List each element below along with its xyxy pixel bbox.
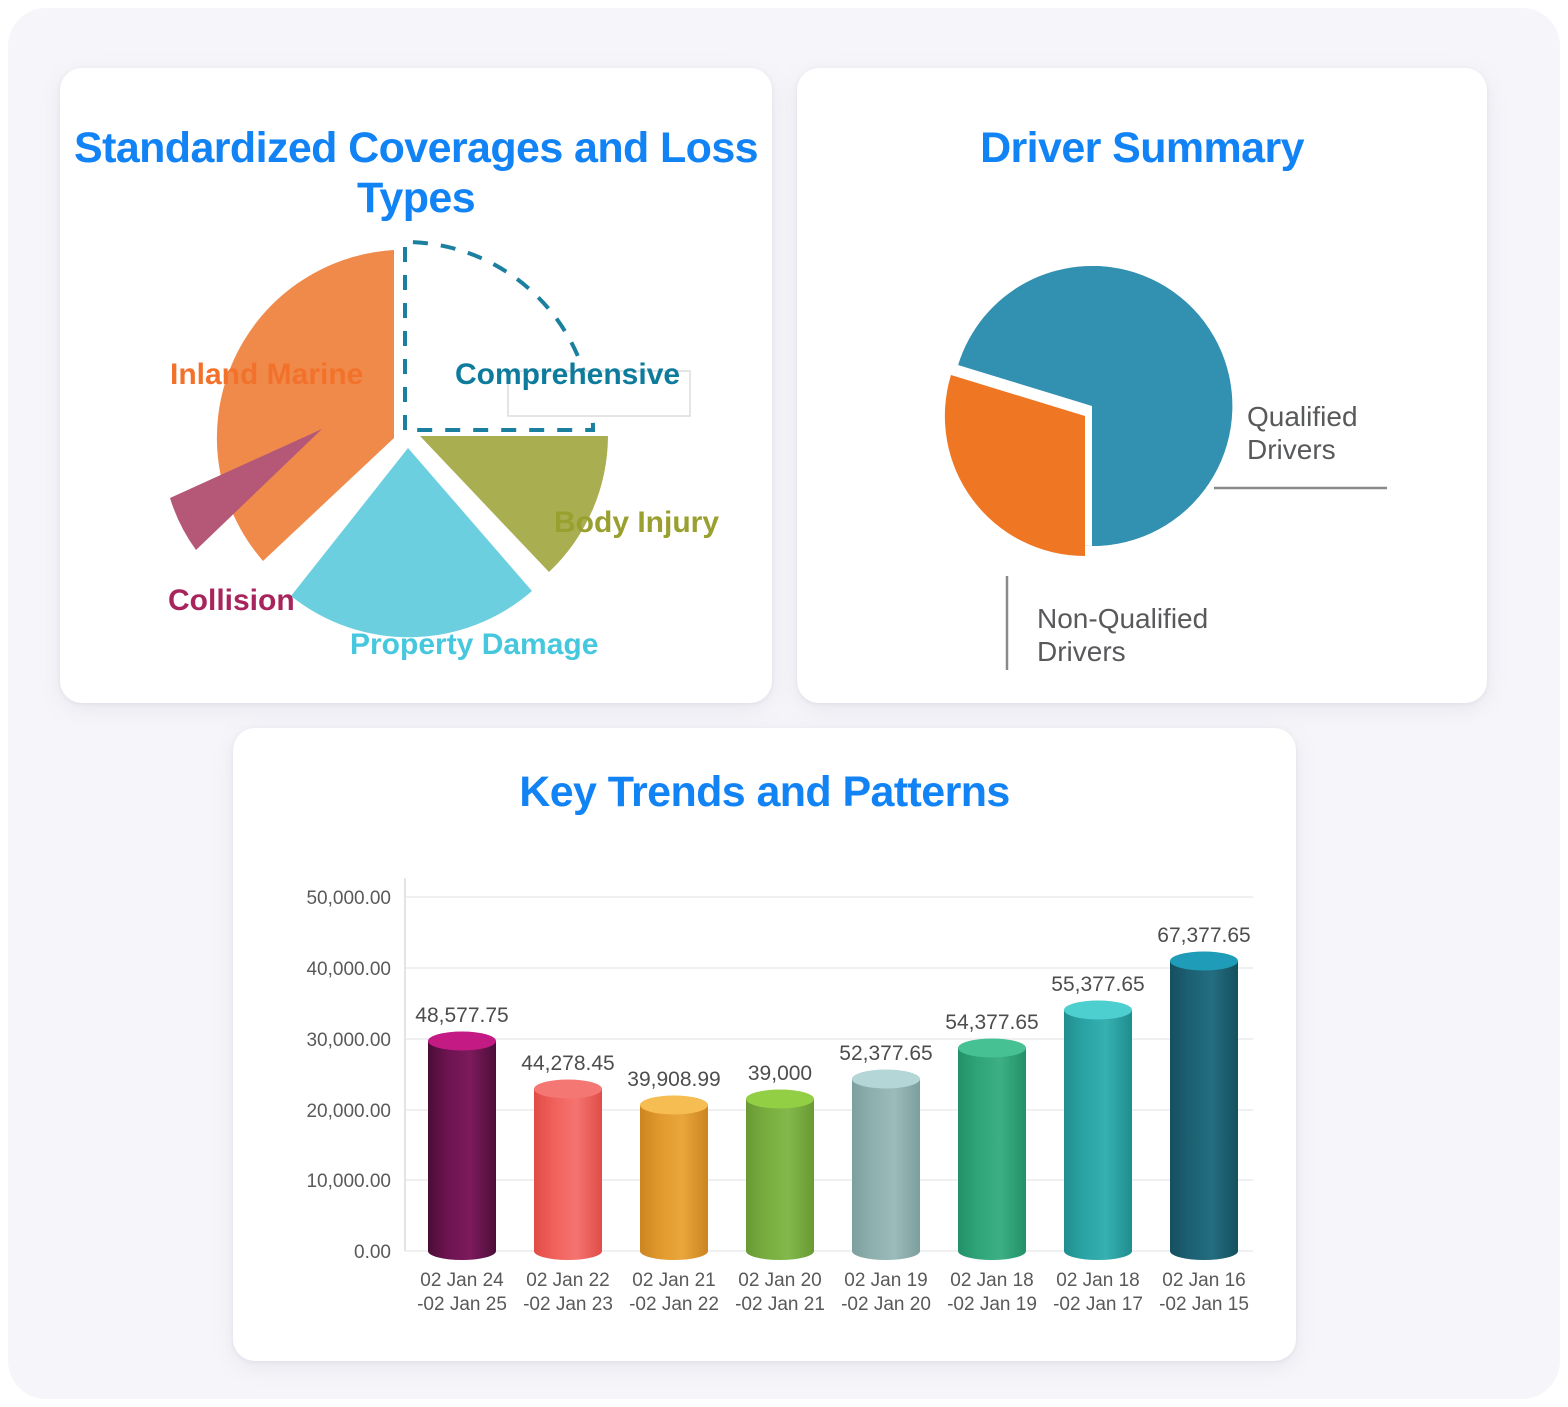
pie-label-comprehensive: Comprehensive (455, 358, 680, 392)
key-trends-bar-chart (233, 728, 1296, 1361)
bar-4[interactable] (746, 1090, 814, 1261)
driver-label-non-qualified: Non-Qualified Drivers (1037, 602, 1208, 668)
card-key-trends: Key Trends and Patterns (233, 728, 1296, 1361)
bar-value-1: 48,577.75 (392, 1004, 532, 1028)
bar-8[interactable] (1170, 952, 1238, 1261)
y-tick-0: 0.00 (261, 1242, 391, 1264)
bar-2[interactable] (534, 1080, 602, 1261)
y-tick-10000: 10,000.00 (261, 1171, 391, 1193)
pie-label-inland-marine: Inland Marine (170, 358, 363, 392)
bar-value-8: 67,377.65 (1134, 924, 1274, 948)
pie-label-body-injury: Body Injury (554, 506, 719, 540)
bar-value-5: 52,377.65 (816, 1042, 956, 1066)
pie-label-collision: Collision (168, 584, 295, 618)
x-tick-8: 02 Jan 16 -02 Jan 15 (1139, 1269, 1269, 1318)
bar-6[interactable] (958, 1039, 1026, 1261)
y-tick-20000: 20,000.00 (261, 1101, 391, 1123)
bar-5[interactable] (852, 1070, 920, 1261)
bar-7[interactable] (1064, 1001, 1132, 1261)
dashboard-background: Standardized Coverages and Loss Types In… (8, 8, 1560, 1399)
y-tick-40000: 40,000.00 (261, 959, 391, 981)
bar-1[interactable] (428, 1032, 496, 1261)
driver-label-qualified: Qualified Drivers (1247, 400, 1358, 466)
pie-label-property-damage: Property Damage (350, 628, 598, 662)
y-tick-30000: 30,000.00 (261, 1030, 391, 1052)
bar-value-6: 54,377.65 (922, 1011, 1062, 1035)
bar-value-7: 55,377.65 (1028, 973, 1168, 997)
bar-3[interactable] (640, 1096, 708, 1261)
card-driver-summary: Driver Summary Qualified Drivers Non-Qua… (797, 68, 1487, 703)
y-tick-50000: 50,000.00 (261, 888, 391, 910)
card-standardized-coverages: Standardized Coverages and Loss Types In… (60, 68, 772, 703)
